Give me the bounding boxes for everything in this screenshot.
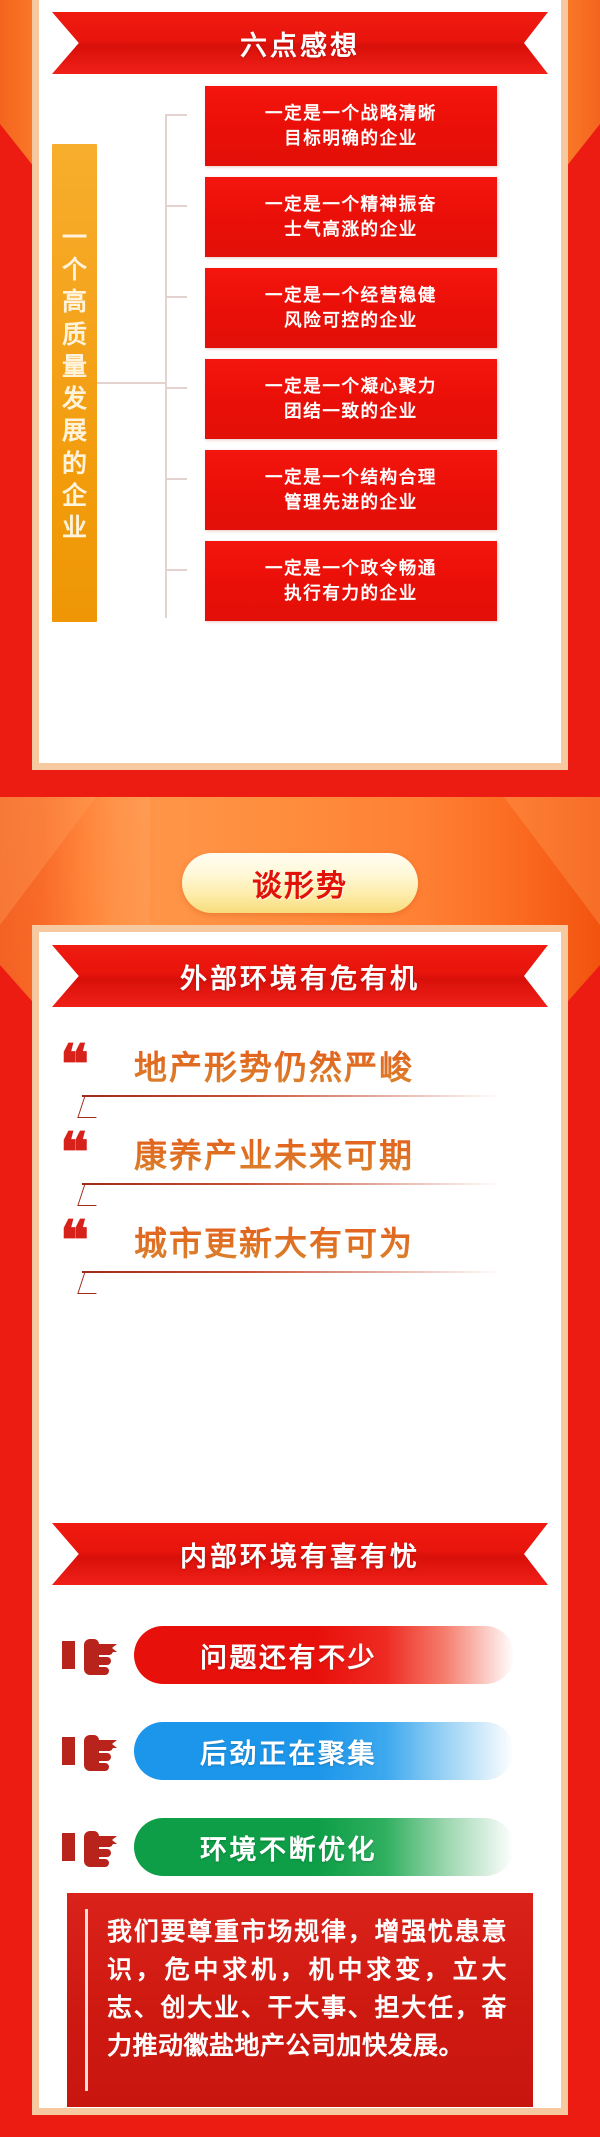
thought-item[interactable]: 一定是一个政令畅通 执行有力的企业 (205, 541, 497, 621)
six-thoughts-tree: 一 个 高 质 量 发 展 的 企 业 (0, 86, 536, 666)
ribbon-right-notch-icon (524, 945, 548, 1007)
internal-item-label: 环境不断优化 (200, 1828, 377, 1867)
thought-line-1: 一定是一个政令畅通 (265, 560, 437, 578)
internal-env-items: 问题还有不少 后劲正在聚集 (52, 1607, 548, 1895)
thought-line-1: 一定是一个结构合理 (265, 469, 437, 487)
infographic-page: 六点感想 一 个 高 质 量 发 展 的 企 业 (0, 0, 600, 2137)
pointing-hand-icon (62, 1825, 120, 1869)
thought-item[interactable]: 一定是一个战略清晰 目标明确的企业 (205, 86, 497, 166)
quote-tail-icon (77, 1271, 103, 1294)
conclusion-box: 我们要尊重市场规律，增强忧患意识，危中求机，机中求变，立大志、创大业、干大事、担… (67, 1893, 533, 2107)
internal-item[interactable]: 后劲正在聚集 (52, 1703, 548, 1799)
thought-line-2: 管理先进的企业 (284, 494, 418, 512)
tree-branch (165, 478, 187, 480)
thought-line-2: 风险可控的企业 (284, 312, 418, 330)
quote-text: 地产形势仍然严峻 (134, 1041, 414, 1089)
section2-title-pill: 谈形势 (182, 853, 418, 913)
quote-tail-icon (77, 1095, 103, 1118)
external-env-quotes: ❝ 地产形势仍然严峻 ❝ 康养产业未来可期 ❝ 城市更新大有可为 (52, 1033, 548, 1297)
internal-item[interactable]: 问题还有不少 (52, 1607, 548, 1703)
top-right-wedge (504, 797, 600, 925)
thought-item[interactable]: 一定是一个凝心聚力 团结一致的企业 (205, 359, 497, 439)
thought-line-2: 士气高涨的企业 (284, 221, 418, 239)
vertical-char: 业 (62, 515, 87, 541)
quote-rule (82, 1183, 502, 1185)
tree-connector (97, 86, 204, 666)
thought-line-1: 一定是一个战略清晰 (265, 105, 437, 123)
tree-branch (165, 114, 187, 116)
conclusion-text: 我们要尊重市场规律，增强忧患意识，危中求机，机中求变，立大志、创大业、干大事、担… (107, 1913, 507, 2065)
pointing-hand-icon (62, 1729, 120, 1773)
vertical-char: 个 (62, 257, 87, 283)
quote-text: 康养产业未来可期 (134, 1129, 414, 1177)
tree-branch (165, 205, 187, 207)
ribbon-right-notch-icon (524, 12, 548, 74)
quote-mark-icon: ❝ (60, 1041, 89, 1090)
conclusion-accent-line (85, 1909, 88, 2091)
section-six-thoughts: 六点感想 一 个 高 质 量 发 展 的 企 业 (0, 0, 600, 797)
internal-env-banner: 内部环境有喜有忧 (52, 1523, 548, 1585)
internal-env-title: 内部环境有喜有忧 (52, 1523, 548, 1585)
quote-item[interactable]: ❝ 地产形势仍然严峻 (52, 1033, 548, 1121)
thought-line-2: 团结一致的企业 (284, 403, 418, 421)
tree-branch (165, 569, 187, 571)
thought-item[interactable]: 一定是一个经营稳健 风险可控的企业 (205, 268, 497, 348)
internal-item-pill[interactable]: 问题还有不少 (134, 1626, 514, 1684)
vertical-char: 质 (62, 322, 87, 348)
thought-item[interactable]: 一定是一个精神振奋 士气高涨的企业 (205, 177, 497, 257)
internal-item-pill[interactable]: 环境不断优化 (134, 1818, 514, 1876)
section1-banner: 六点感想 (52, 12, 548, 74)
ribbon-right-notch-icon (524, 1523, 548, 1585)
external-env-title: 外部环境有危有机 (52, 945, 548, 1007)
quote-mark-icon: ❝ (60, 1217, 89, 1266)
quote-item[interactable]: ❝ 康养产业未来可期 (52, 1121, 548, 1209)
pointing-hand-icon (62, 1633, 120, 1677)
vertical-char: 的 (62, 451, 87, 477)
vertical-orange-label: 一 个 高 质 量 发 展 的 企 业 (52, 144, 97, 622)
vertical-char: 量 (62, 354, 87, 380)
tree-branch (165, 296, 187, 298)
internal-item-pill[interactable]: 后劲正在聚集 (134, 1722, 514, 1780)
vertical-char: 展 (62, 418, 87, 444)
internal-item-label: 问题还有不少 (200, 1636, 377, 1675)
internal-item-label: 后劲正在聚集 (200, 1732, 377, 1771)
vertical-char: 高 (62, 289, 87, 315)
section2-title: 谈形势 (252, 861, 348, 905)
quote-tail-icon (77, 1183, 103, 1206)
external-env-banner: 外部环境有危有机 (52, 945, 548, 1007)
tree-spine (165, 114, 167, 618)
quote-mark-icon: ❝ (60, 1129, 89, 1178)
internal-item[interactable]: 环境不断优化 (52, 1799, 548, 1895)
thought-line-2: 执行有力的企业 (284, 585, 418, 603)
thought-line-1: 一定是一个精神振奋 (265, 196, 437, 214)
vertical-char: 一 (62, 225, 87, 251)
vertical-char: 发 (62, 386, 87, 412)
vertical-char: 企 (62, 483, 87, 509)
six-thoughts-list: 一定是一个战略清晰 目标明确的企业 一定是一个精神振奋 士气高涨的企业 一定是一… (205, 86, 497, 632)
thought-line-2: 目标明确的企业 (284, 130, 418, 148)
tree-branch (165, 387, 187, 389)
thought-item[interactable]: 一定是一个结构合理 管理先进的企业 (205, 450, 497, 530)
thought-line-1: 一定是一个经营稳健 (265, 287, 437, 305)
section1-banner-title: 六点感想 (52, 12, 548, 74)
tree-stem (97, 382, 166, 384)
quote-text: 城市更新大有可为 (134, 1217, 414, 1265)
quote-rule (82, 1271, 502, 1273)
quote-item[interactable]: ❝ 城市更新大有可为 (52, 1209, 548, 1297)
thought-line-1: 一定是一个凝心聚力 (265, 378, 437, 396)
section-situation: 谈形势 外部环境有危有机 ❝ 地产形势仍然严峻 ❝ 康养产业未来可期 (0, 797, 600, 2137)
quote-rule (82, 1095, 502, 1097)
page-bottom-strip (0, 2115, 600, 2137)
